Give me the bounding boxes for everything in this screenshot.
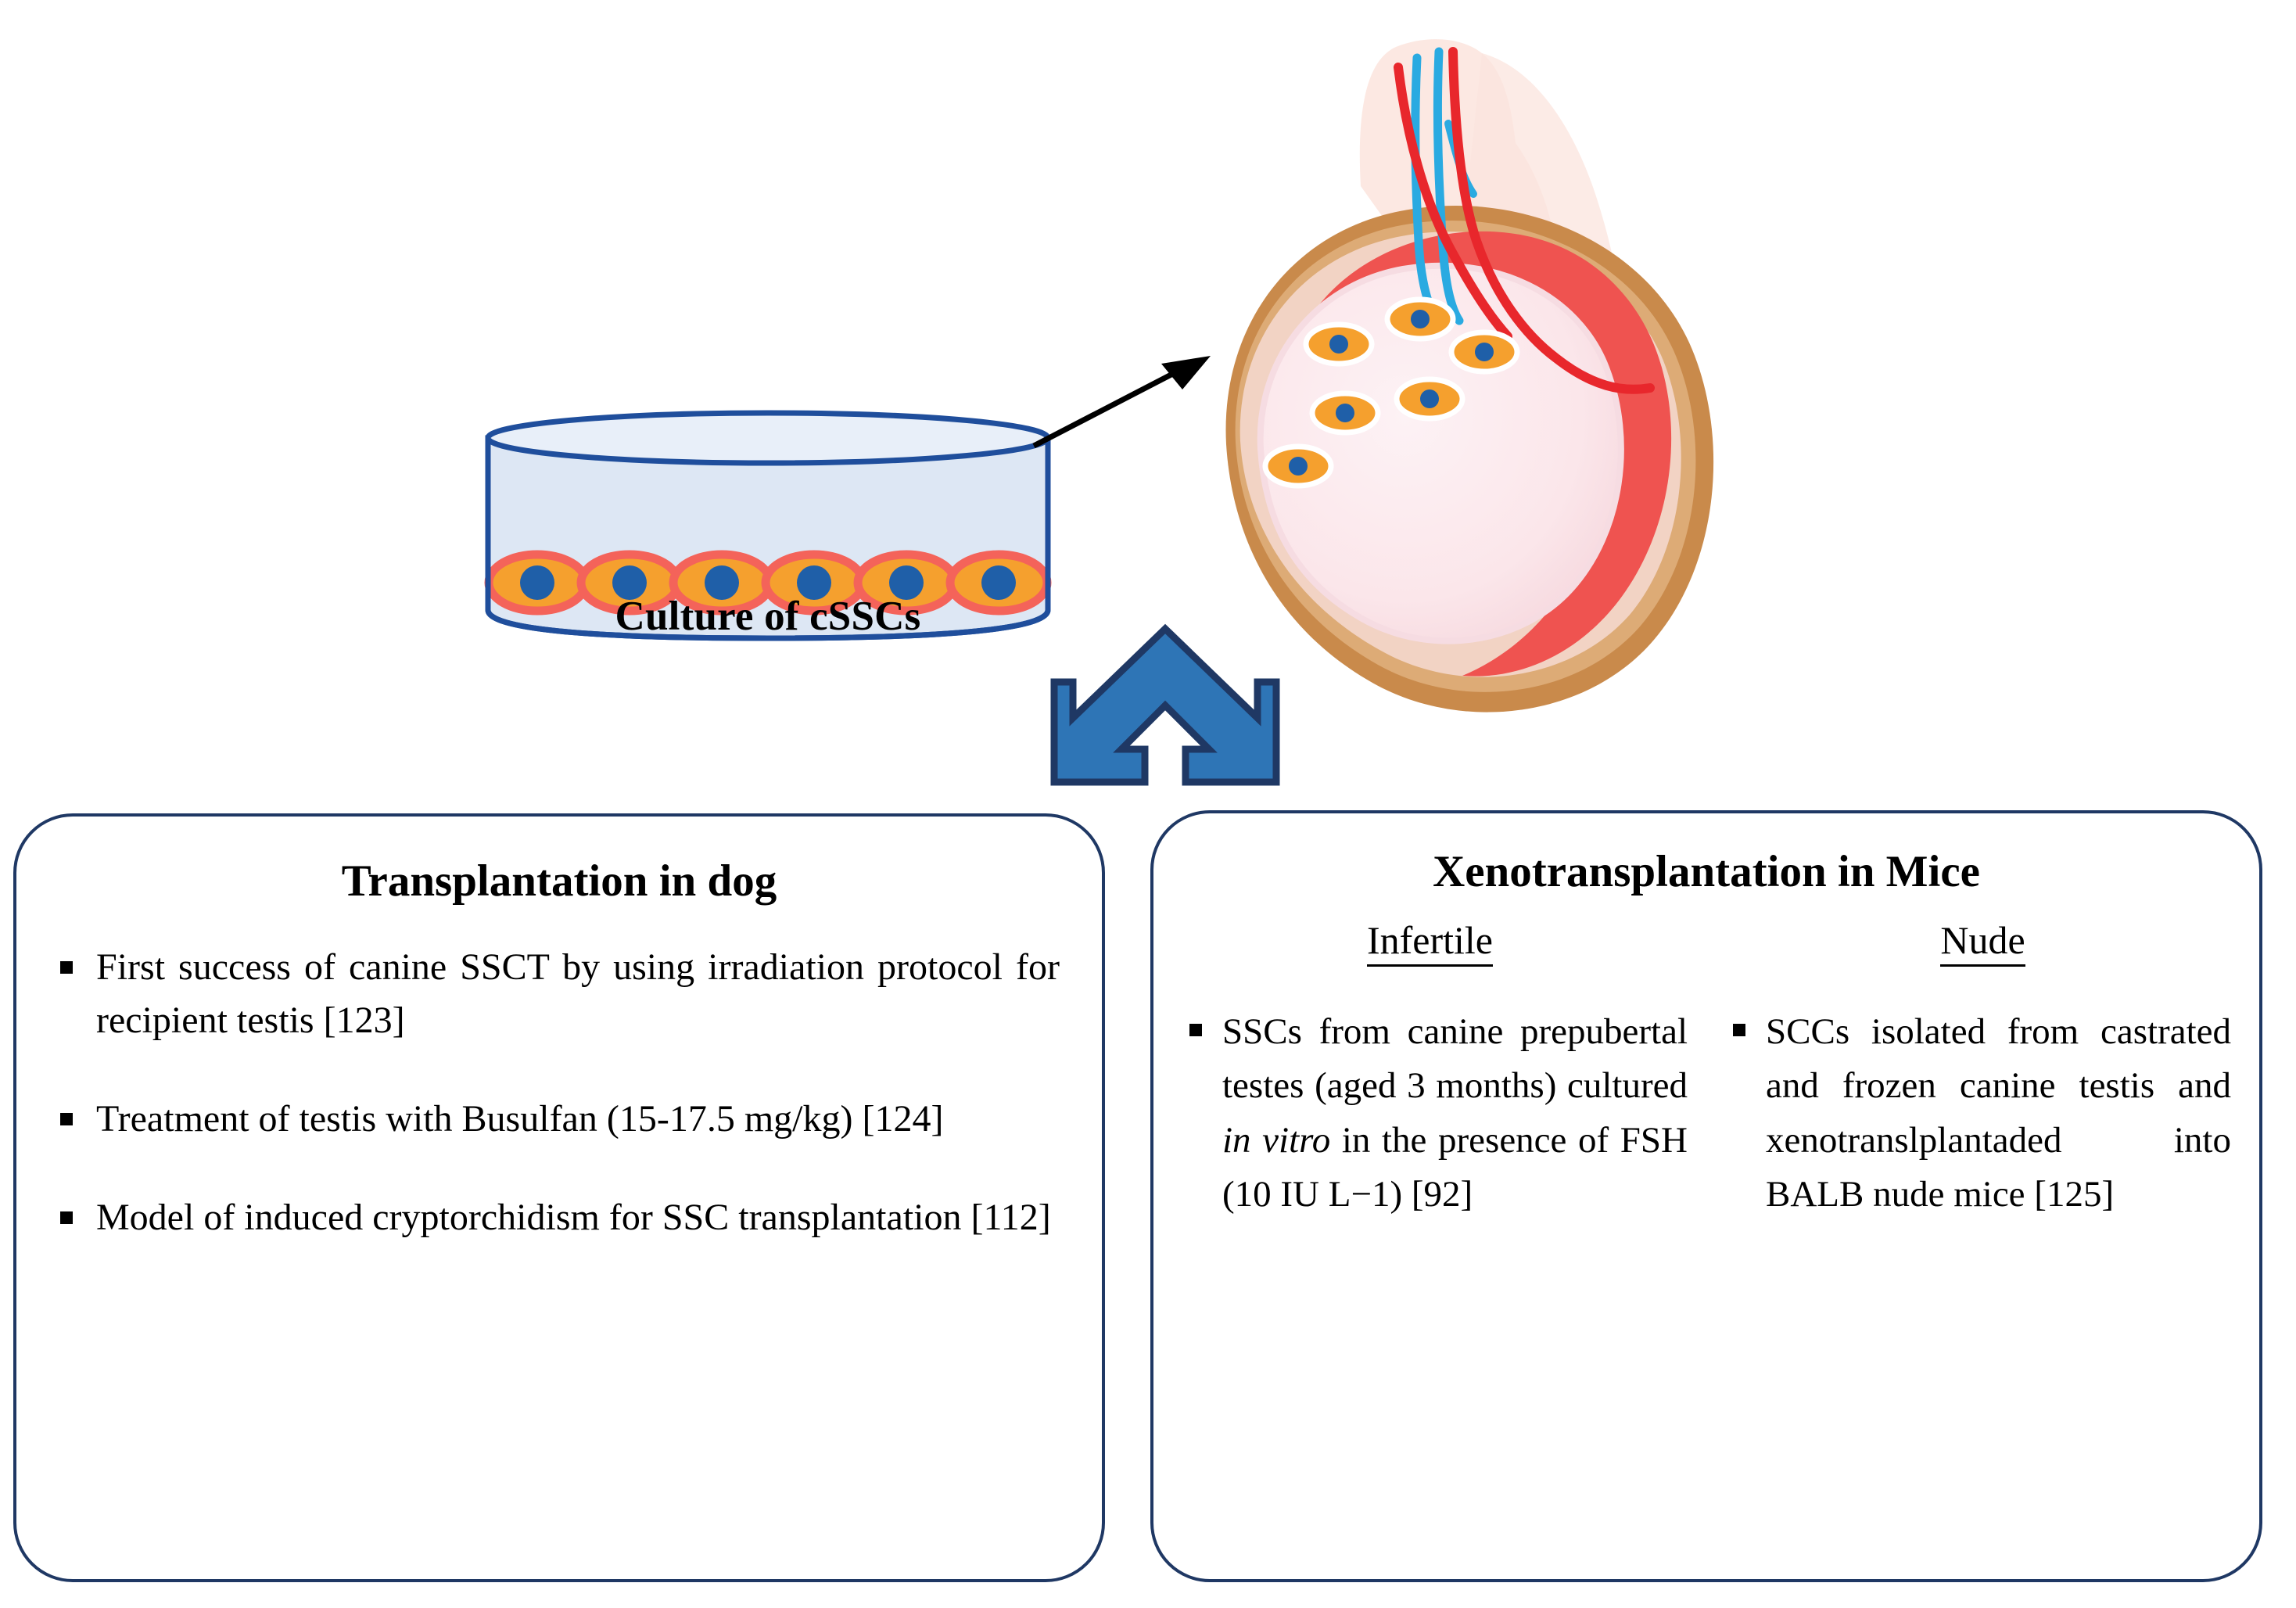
testis-illustration bbox=[1204, 6, 1767, 757]
dog-bullet-list: First success of canine SSCT by using ir… bbox=[52, 941, 1060, 1245]
ssc-cell bbox=[1397, 379, 1462, 418]
dish-rim bbox=[488, 413, 1048, 463]
list-item: Model of induced cryptorchidism for SSC … bbox=[52, 1191, 1060, 1244]
mice-column-nude: SCCs isolated from castrated and frozen … bbox=[1728, 1005, 2231, 1222]
infertile-bullet-list: SSCs from canine prepubertal testes (age… bbox=[1185, 1005, 1688, 1222]
list-item: SCCs isolated from castrated and frozen … bbox=[1728, 1005, 2231, 1222]
plain-text: SCCs isolated from castrated and frozen … bbox=[1766, 1011, 2231, 1215]
split-arrow-shape bbox=[1054, 629, 1276, 782]
nude-bullet-list: SCCs isolated from castrated and frozen … bbox=[1728, 1005, 2231, 1222]
ssc-cell bbox=[1306, 325, 1372, 364]
panel-mice-title: Xenotransplantation in Mice bbox=[1153, 848, 2259, 897]
ssc-cell bbox=[1451, 332, 1517, 371]
plain-text: SSCs from canine prepubertal testes (age… bbox=[1222, 1011, 1688, 1107]
italic-text: in vitro bbox=[1222, 1120, 1330, 1161]
ssc-cell bbox=[1265, 447, 1331, 486]
arrow-shaft bbox=[1034, 368, 1185, 446]
list-item: SSCs from canine prepubertal testes (age… bbox=[1185, 1005, 1688, 1222]
figure-canvas: Culture of cSSCs bbox=[0, 0, 2296, 1608]
list-item: Treatment of testis with Busulfan (15-17… bbox=[52, 1093, 1060, 1146]
black-arrow-svg bbox=[1017, 328, 1251, 485]
testis-svg bbox=[1204, 6, 1767, 757]
transplant-arrow bbox=[1017, 328, 1251, 485]
list-item: First success of canine SSCT by using ir… bbox=[52, 941, 1060, 1047]
mice-subheadings: Infertile Nude bbox=[1153, 917, 2259, 963]
blue-split-arrow-svg bbox=[1048, 618, 1283, 790]
arrow-head bbox=[1161, 356, 1211, 389]
panel-dog-title: Transplantation in dog bbox=[16, 857, 1102, 906]
mice-two-column-body: SSCs from canine prepubertal testes (age… bbox=[1153, 1005, 2259, 1222]
mice-column-infertile: SSCs from canine prepubertal testes (age… bbox=[1185, 1005, 1688, 1222]
ssc-cell bbox=[1387, 300, 1453, 339]
panel-transplantation-in-dog: Transplantation in dog First success of … bbox=[13, 813, 1105, 1582]
panel-xenotransplantation-in-mice: Xenotransplantation in Mice Infertile Nu… bbox=[1150, 810, 2262, 1582]
split-arrow bbox=[1048, 618, 1283, 790]
subhead-infertile: Infertile bbox=[1153, 917, 1706, 963]
ssc-cell bbox=[1312, 393, 1378, 433]
culture-dish-label: Culture of cSSCs bbox=[479, 593, 1057, 640]
subhead-nude: Nude bbox=[1706, 917, 2259, 963]
